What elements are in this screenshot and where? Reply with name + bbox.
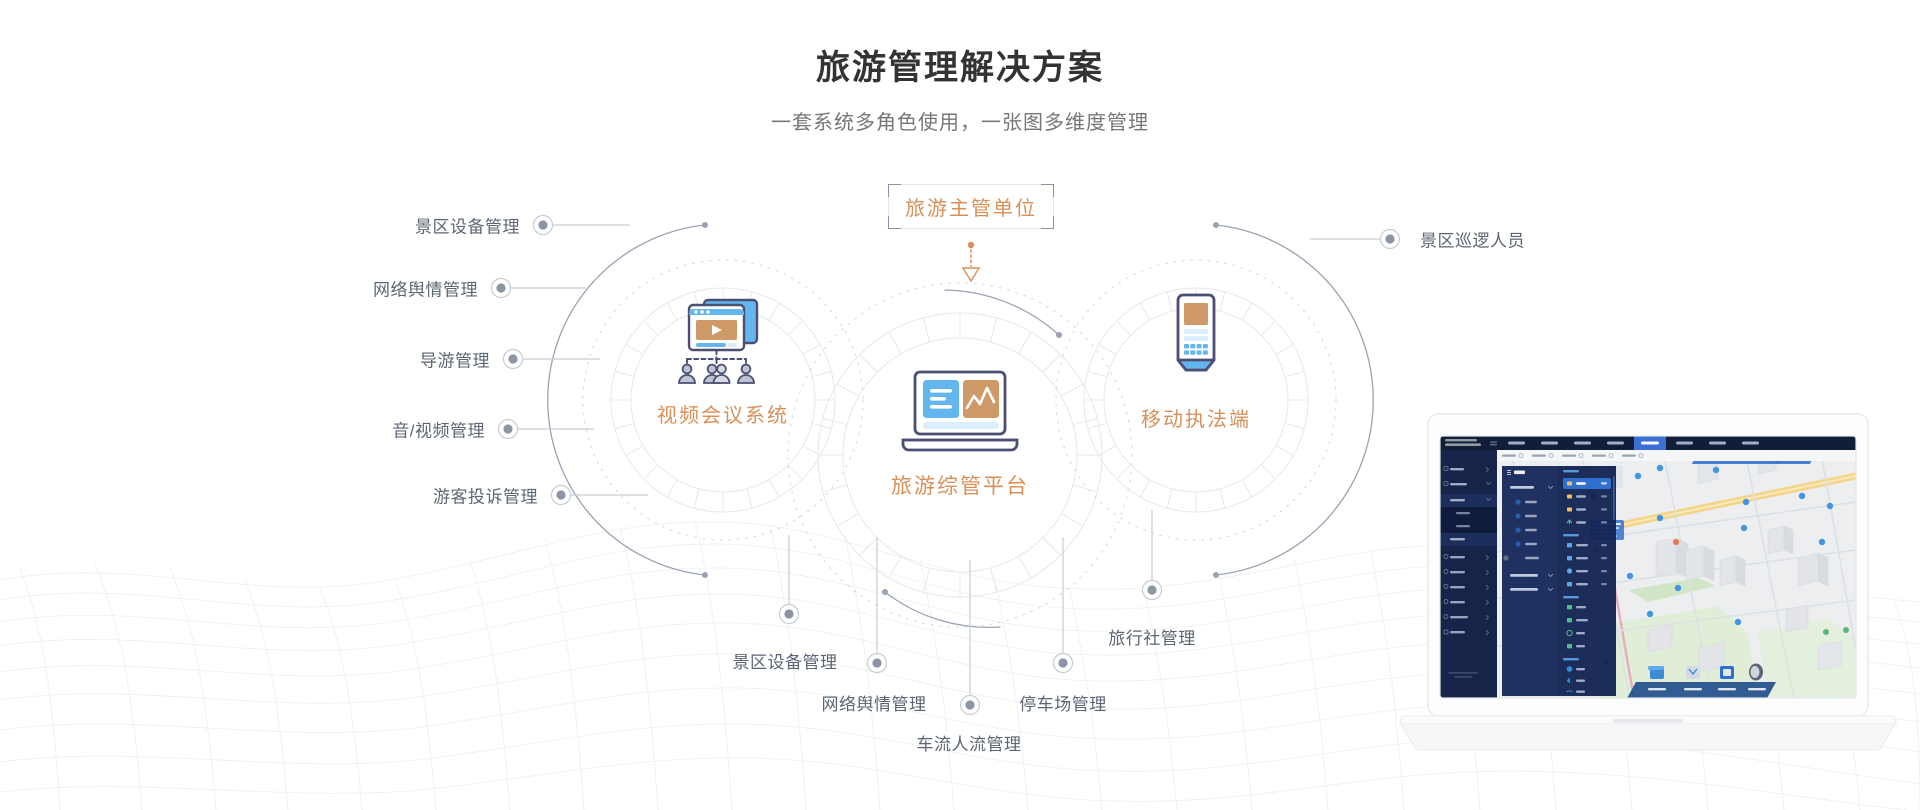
label-left-1[interactable]: 景区设备管理 <box>415 213 520 238</box>
corner-top-right <box>1040 184 1054 198</box>
dashboard-region-panel[interactable] <box>1502 466 1558 696</box>
dashboard-screen <box>1440 436 1856 700</box>
label-bottom-4[interactable]: 停车场管理 <box>1019 690 1107 715</box>
edge-bottom <box>901 228 1041 229</box>
hub-caption-video-conference: 视频会议系统 <box>628 399 818 428</box>
corner-top-left <box>888 184 902 198</box>
page-title: 旅游管理解决方案 <box>0 0 1920 89</box>
label-left-5[interactable]: 游客投诉管理 <box>433 483 538 508</box>
hub-caption-mobile-enforcement: 移动执法端 <box>1106 403 1286 432</box>
label-bottom-5[interactable]: 旅行社管理 <box>1108 624 1196 649</box>
authority-label: 旅游主管单位 <box>905 192 1037 221</box>
dashboard-chip-strip[interactable] <box>1497 450 1856 461</box>
corner-bottom-left <box>888 215 902 229</box>
hub-video-conference[interactable]: 视频会议系统 <box>628 295 818 428</box>
hub-mobile-enforcement[interactable]: 移动执法端 <box>1106 293 1286 432</box>
label-bottom-2[interactable]: 网络舆情管理 <box>822 690 927 715</box>
video-conference-icon <box>671 295 775 387</box>
edge-right <box>1053 197 1054 216</box>
page-subtitle: 一套系统多角色使用，一张图多维度管理 <box>0 89 1920 135</box>
label-left-2[interactable]: 网络舆情管理 <box>373 276 478 301</box>
edge-left <box>888 197 889 216</box>
dashboard-layer-panel[interactable] <box>1558 466 1616 696</box>
page-header: 旅游管理解决方案 一套系统多角色使用，一张图多维度管理 <box>0 0 1920 135</box>
corner-bottom-right <box>1040 215 1054 229</box>
laptop-dashboard-icon <box>897 368 1023 456</box>
laptop-mockup <box>1398 410 1898 770</box>
hub-tourism-platform[interactable]: 旅游综管平台 <box>860 368 1060 500</box>
label-right-1[interactable]: 景区巡逻人员 <box>1420 227 1525 252</box>
hub-caption-tourism-platform: 旅游综管平台 <box>860 470 1060 500</box>
layer-panel-scrollbar[interactable] <box>1613 476 1615 520</box>
edge-top <box>901 184 1041 185</box>
mobile-device-icon <box>1164 293 1228 389</box>
label-bottom-1[interactable]: 景区设备管理 <box>733 648 838 673</box>
dashboard-sidebar[interactable] <box>1440 450 1497 698</box>
right-connector-dots <box>1381 230 1400 249</box>
authority-arrow <box>963 242 979 281</box>
left-connector-dots <box>492 216 571 505</box>
bottom-connectors <box>789 510 1152 695</box>
label-bottom-3[interactable]: 车流人流管理 <box>917 730 1022 755</box>
label-left-4[interactable]: 音/视频管理 <box>392 417 485 442</box>
authority-badge: 旅游主管单位 <box>888 184 1054 229</box>
label-left-3[interactable]: 导游管理 <box>420 347 490 372</box>
